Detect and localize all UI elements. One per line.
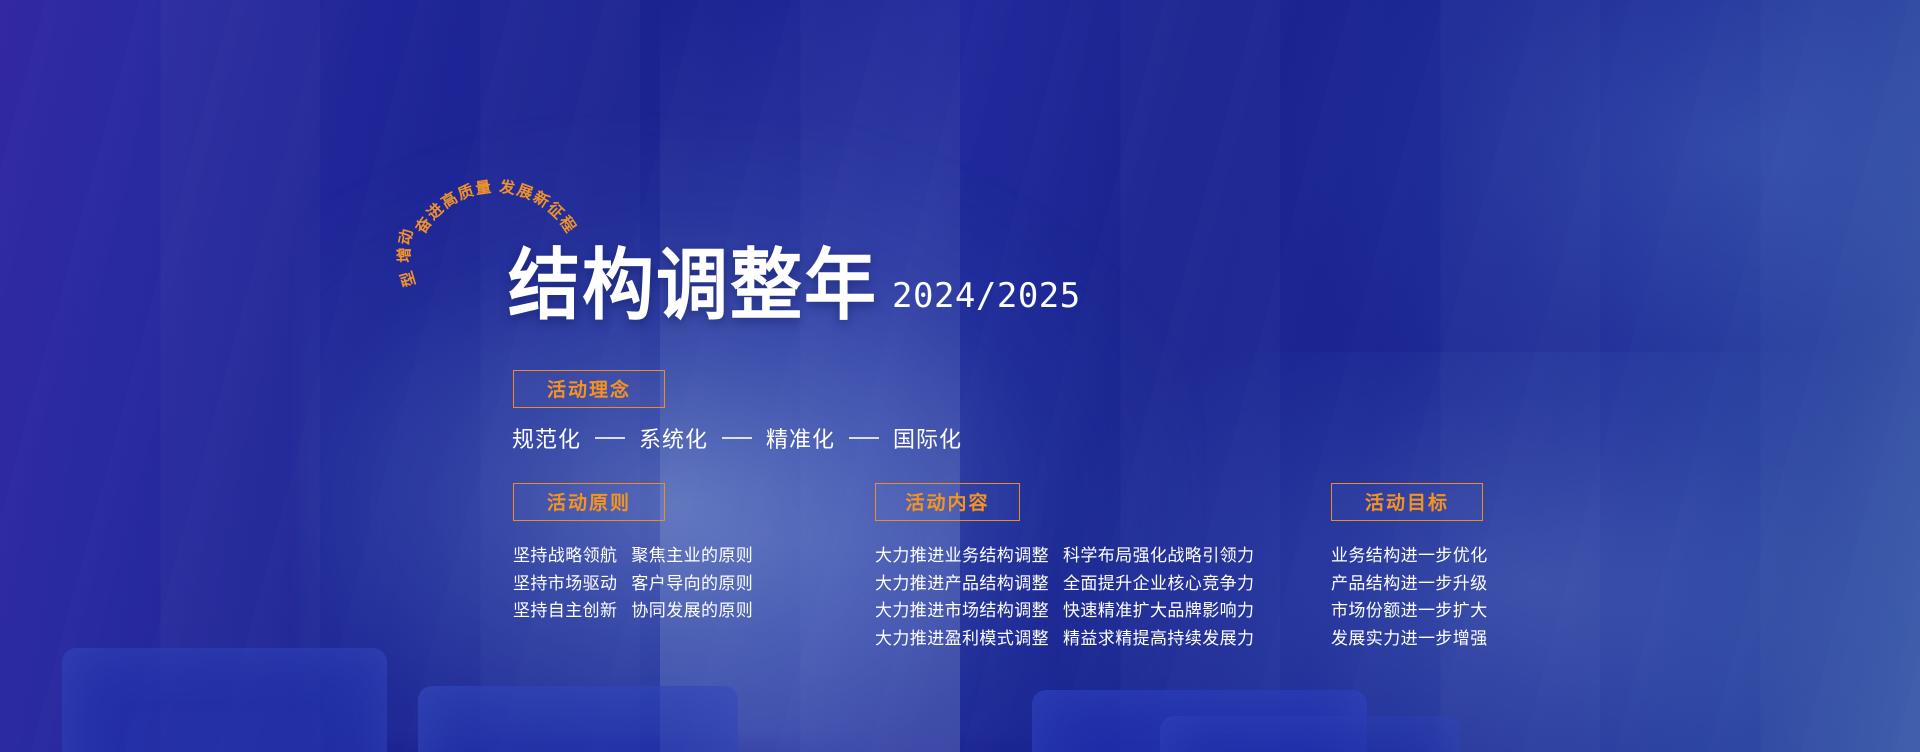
content-1-left: 大力推进业务结构调整 [875,542,1049,570]
badge-activity-goals[interactable]: 活动目标 [1331,483,1483,521]
goals-lines: 业务结构进一步优化 产品结构进一步升级 市场份额进一步扩大 发展实力进一步增强 [1331,542,1488,652]
concept-keywords: 规范化 系统化 精准化 国际化 [512,422,962,454]
list-item: 产品结构进一步升级 [1331,570,1488,598]
badge-activity-content[interactable]: 活动内容 [875,483,1020,521]
principle-2-right: 客户导向的原则 [631,570,753,598]
goal-2: 产品结构进一步升级 [1331,570,1488,598]
content-2-left: 大力推进产品结构调整 [875,570,1049,598]
content-3-right: 快速精准扩大品牌影响力 [1063,597,1254,625]
keyword-4: 国际化 [893,422,962,454]
list-item: 坚持自主创新 协同发展的原则 [513,597,753,625]
list-item: 大力推进业务结构调整 科学布局强化战略引领力 [875,542,1254,570]
banner-poster: 奋进高质量 发展新征程 转型 增动能 结构调整年 2024/2025 活动理念 … [0,0,1920,752]
goal-4: 发展实力进一步增强 [1331,625,1488,653]
list-item: 业务结构进一步优化 [1331,542,1488,570]
principle-1-right: 聚焦主业的原则 [631,542,753,570]
keyword-2: 系统化 [639,422,708,454]
list-item: 坚持市场驱动 客户导向的原则 [513,570,753,598]
list-item: 坚持战略领航 聚焦主业的原则 [513,542,753,570]
list-item: 市场份额进一步扩大 [1331,597,1488,625]
poster-content: 奋进高质量 发展新征程 转型 增动能 结构调整年 2024/2025 活动理念 … [0,0,1920,752]
badge-activity-concept[interactable]: 活动理念 [513,370,665,408]
circular-slogan-top: 奋进高质量 发展新征程 [411,177,580,238]
circular-slogan-left-path: 转型 增动能 [389,123,419,289]
content-lines: 大力推进业务结构调整 科学布局强化战略引领力 大力推进产品结构调整 全面提升企业… [875,542,1254,652]
page-title: 结构调整年 [508,249,878,323]
content-1-right: 科学布局强化战略引领力 [1063,542,1254,570]
circular-slogan-top-path: 奋进高质量 发展新征程 [411,177,580,238]
principle-3-right: 协同发展的原则 [631,597,753,625]
principle-1-left: 坚持战略领航 [513,542,617,570]
badge-activity-principles[interactable]: 活动原则 [513,483,665,521]
keyword-1: 规范化 [512,422,581,454]
list-item: 发展实力进一步增强 [1331,625,1488,653]
list-item: 大力推进盈利模式调整 精益求精提高持续发展力 [875,625,1254,653]
keyword-3: 精准化 [766,422,835,454]
column-activity-content: 活动内容 大力推进业务结构调整 科学布局强化战略引领力 大力推进产品结构调整 全… [875,483,1254,652]
goal-3: 市场份额进一步扩大 [1331,597,1488,625]
content-4-left: 大力推进盈利模式调整 [875,625,1049,653]
list-item: 大力推进产品结构调整 全面提升企业核心竞争力 [875,570,1254,598]
content-4-right: 精益求精提高持续发展力 [1063,625,1254,653]
keyword-separator-3 [849,437,879,439]
content-3-left: 大力推进市场结构调整 [875,597,1049,625]
principles-lines: 坚持战略领航 聚焦主业的原则 坚持市场驱动 客户导向的原则 坚持自主创新 协同发… [513,542,753,625]
principle-3-left: 坚持自主创新 [513,597,617,625]
list-item: 大力推进市场结构调整 快速精准扩大品牌影响力 [875,597,1254,625]
title-years: 2024/2025 [892,276,1081,322]
column-activity-principles: 活动原则 坚持战略领航 聚焦主业的原则 坚持市场驱动 客户导向的原则 坚持自主创… [513,483,753,625]
column-activity-goals: 活动目标 业务结构进一步优化 产品结构进一步升级 市场份额进一步扩大 发展实力进… [1331,483,1488,652]
keyword-separator-2 [722,437,752,439]
keyword-separator-1 [595,437,625,439]
circular-slogan-left: 转型 增动能 [389,123,419,289]
content-2-right: 全面提升企业核心竞争力 [1063,570,1254,598]
goal-1: 业务结构进一步优化 [1331,542,1488,570]
title-block: 结构调整年 2024/2025 [508,254,1081,322]
principle-2-left: 坚持市场驱动 [513,570,617,598]
